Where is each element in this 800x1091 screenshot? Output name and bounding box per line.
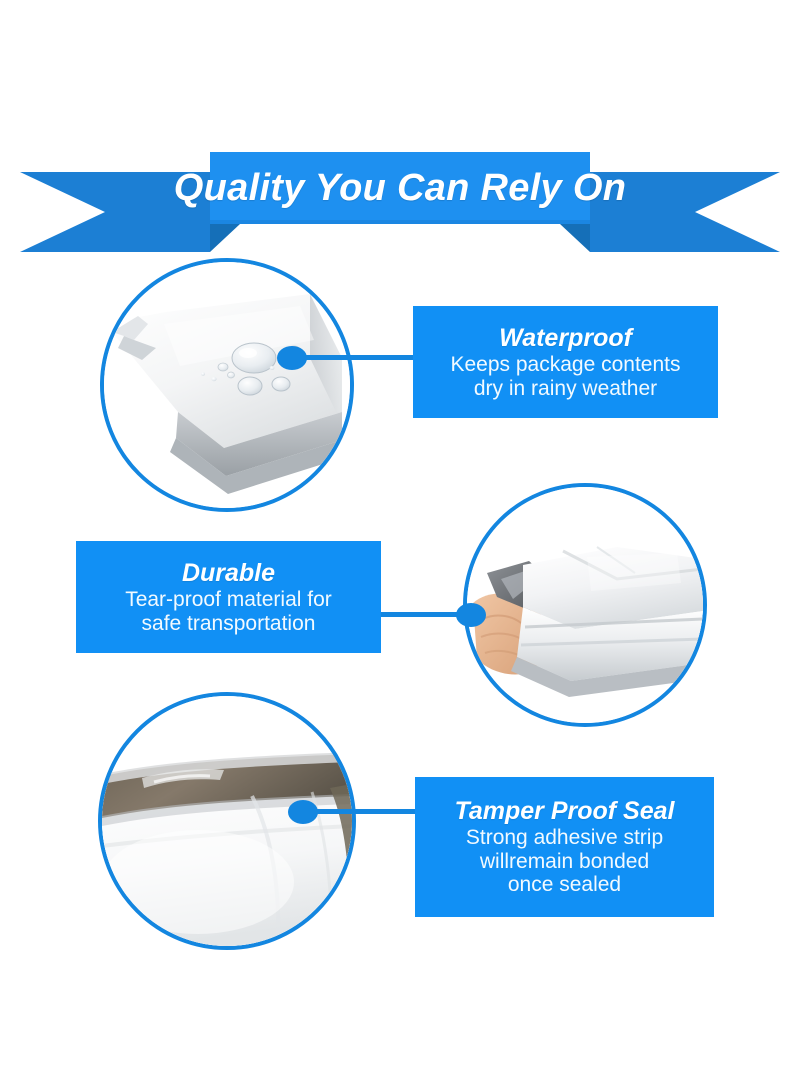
hand-holding-filled-mailer-photo: [467, 487, 703, 723]
waterproof-connector-line: [292, 355, 416, 360]
tamper-seal-photo-circle: [98, 692, 356, 950]
tamper-seal-body-line-2: willremain bonded: [466, 850, 663, 874]
banner-ribbon: Quality You Can Rely On: [10, 152, 790, 252]
durable-photo-circle: [463, 483, 707, 727]
tamper-seal-connector-line: [303, 809, 418, 814]
tamper-seal-title: Tamper Proof Seal: [455, 797, 675, 825]
adhesive-seal-closeup-photo: [102, 696, 352, 946]
durable-body: Tear-proof material for safe transportat…: [125, 588, 332, 636]
waterproof-title: Waterproof: [499, 324, 632, 352]
waterproof-photo-circle: [100, 258, 354, 512]
banner-title: Quality You Can Rely On: [10, 152, 790, 224]
infographic-canvas: Quality You Can Rely On: [0, 0, 800, 1091]
tamper-seal-body: Strong adhesive strip willremain bonded …: [466, 826, 663, 898]
waterproof-callout: Waterproof Keeps package contents dry in…: [413, 306, 718, 418]
waterproof-body-line-1: Keeps package contents: [451, 353, 681, 377]
tamper-seal-callout: Tamper Proof Seal Strong adhesive strip …: [415, 777, 714, 917]
mailer-with-water-droplets-photo: [104, 262, 350, 508]
durable-connector-line: [378, 612, 464, 617]
durable-title: Durable: [182, 559, 275, 587]
waterproof-body: Keeps package contents dry in rainy weat…: [451, 353, 681, 401]
durable-callout: Durable Tear-proof material for safe tra…: [76, 541, 381, 653]
durable-body-line-2: safe transportation: [125, 612, 332, 636]
tamper-seal-body-line-1: Strong adhesive strip: [466, 826, 663, 850]
tamper-seal-body-line-3: once sealed: [466, 873, 663, 897]
waterproof-body-line-2: dry in rainy weather: [451, 377, 681, 401]
durable-body-line-1: Tear-proof material for: [125, 588, 332, 612]
